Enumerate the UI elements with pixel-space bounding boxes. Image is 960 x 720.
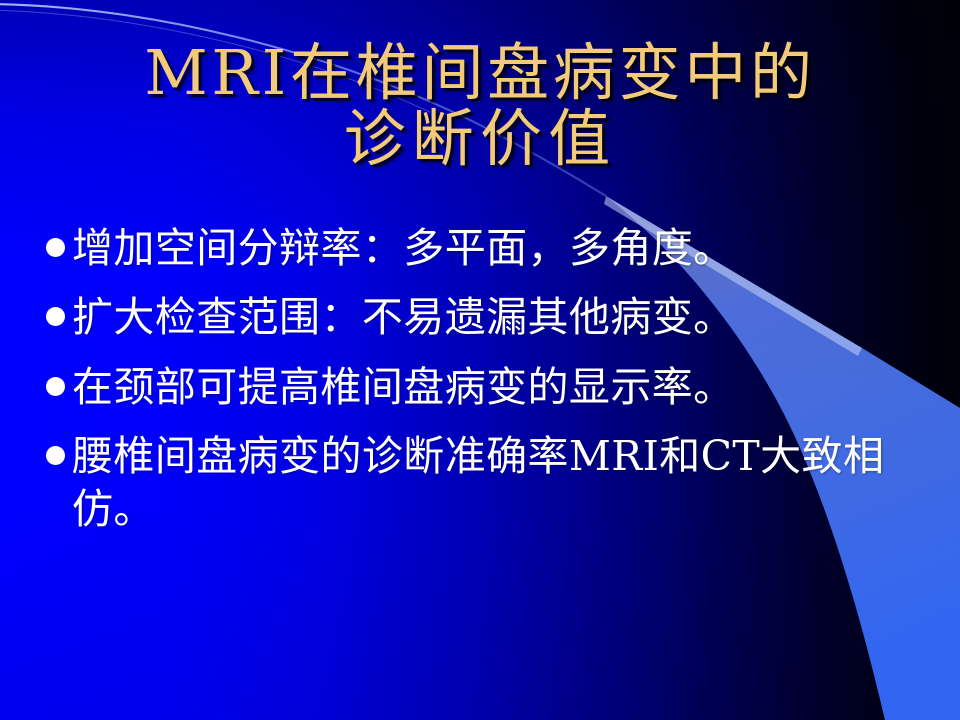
list-item-label: 腰椎间盘病变的诊断准确率MRI和CT大致相仿。: [72, 430, 926, 537]
list-item-label: 增加空间分辩率：多平面，多角度。: [72, 222, 926, 275]
list-item: 增加空间分辩率：多平面，多角度。: [46, 222, 926, 275]
bullet-circle-icon: [46, 238, 65, 257]
title-line-1: MRI在椎间盘病变中的: [0, 40, 960, 106]
list-item-label: 扩大检查范围：不易遗漏其他病变。: [72, 291, 926, 344]
bullet-circle-icon: [46, 307, 65, 326]
title-line-2: 诊断价值: [0, 106, 960, 172]
list-item: 在颈部可提高椎间盘病变的显示率。: [46, 361, 926, 414]
list-item: 腰椎间盘病变的诊断准确率MRI和CT大致相仿。: [46, 430, 926, 537]
bullet-circle-icon: [46, 446, 65, 465]
slide-canvas: MRI在椎间盘病变中的 诊断价值 增加空间分辩率：多平面，多角度。 扩大检查范围…: [0, 0, 960, 720]
list-item-label: 在颈部可提高椎间盘病变的显示率。: [72, 361, 926, 414]
page-title: MRI在椎间盘病变中的 诊断价值: [0, 40, 960, 171]
bullet-list: 增加空间分辩率：多平面，多角度。 扩大检查范围：不易遗漏其他病变。 在颈部可提高…: [46, 222, 926, 536]
bullet-circle-icon: [46, 377, 65, 396]
list-item: 扩大检查范围：不易遗漏其他病变。: [46, 291, 926, 344]
